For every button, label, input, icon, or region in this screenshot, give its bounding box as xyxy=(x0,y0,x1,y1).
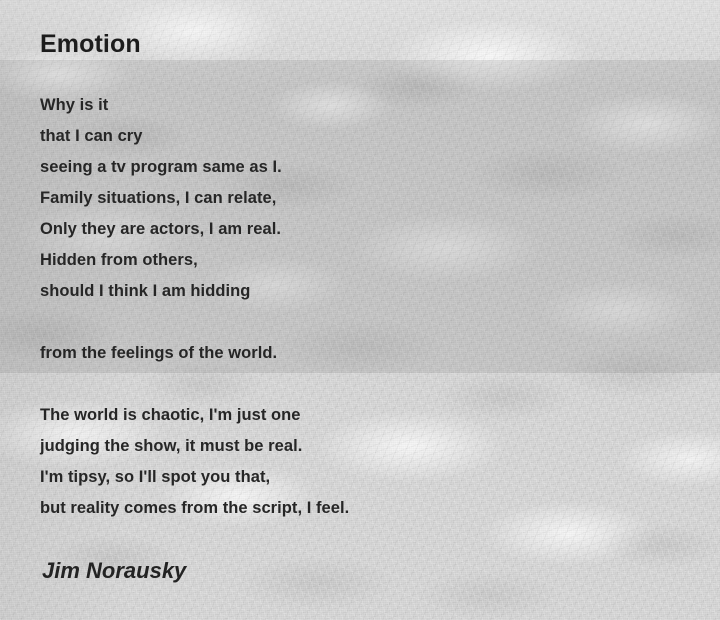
page-title: Emotion xyxy=(40,30,141,59)
poem-stanza-2: The world is chaotic, I'm just onejudgin… xyxy=(40,400,349,524)
poem-line: from the feelings of the world. xyxy=(40,338,282,369)
poem-line: Family situations, I can relate, xyxy=(40,183,282,214)
poem-line: Hidden from others, xyxy=(40,245,282,276)
poem-line: Only they are actors, I am real. xyxy=(40,214,282,245)
poem-content: Emotion Why is itthat I can cryseeing a … xyxy=(0,0,720,620)
poem-line: The world is chaotic, I'm just one xyxy=(40,400,349,431)
poem-author: Jim Norausky xyxy=(42,558,186,584)
poem-line: seeing a tv program same as I. xyxy=(40,152,282,183)
poem-line xyxy=(40,307,282,338)
poem-line: judging the show, it must be real. xyxy=(40,431,349,462)
poem-stanza-1: Why is itthat I can cryseeing a tv progr… xyxy=(40,90,282,369)
poem-line: I'm tipsy, so I'll spot you that, xyxy=(40,462,349,493)
poem-image: Emotion Why is itthat I can cryseeing a … xyxy=(0,0,720,620)
poem-line: but reality comes from the script, I fee… xyxy=(40,493,349,524)
poem-line: that I can cry xyxy=(40,121,282,152)
poem-line: should I think I am hidding xyxy=(40,276,282,307)
poem-line: Why is it xyxy=(40,90,282,121)
